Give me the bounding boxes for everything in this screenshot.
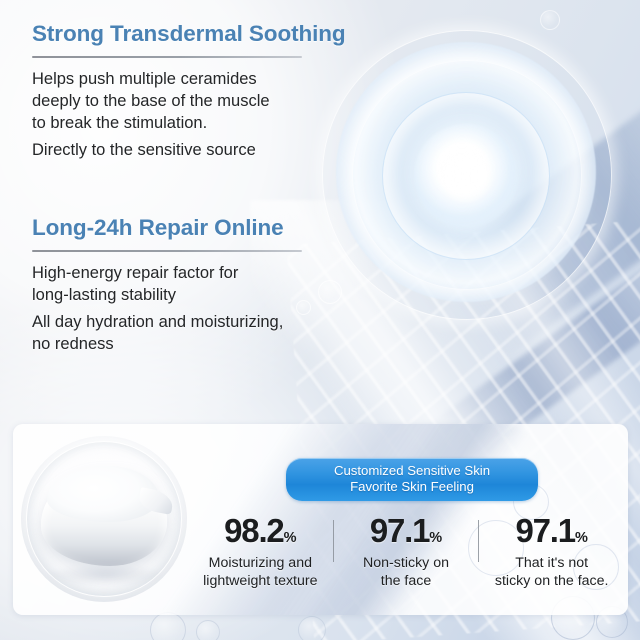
feature-section-1: Strong Transdermal Soothing Helps push m… — [32, 22, 346, 162]
water-droplet-ring-inner — [382, 92, 550, 260]
stats-panel: Customized Sensitive Skin Favorite Skin … — [13, 424, 628, 615]
stat-row: 98.2% Moisturizing and lightweight textu… — [188, 514, 624, 590]
stat-3-number: 97.1 — [516, 512, 575, 549]
bubble-icon — [298, 616, 326, 640]
water-droplet-highlight — [440, 150, 492, 202]
cream-jar-product-image — [21, 436, 187, 602]
bubble-icon — [196, 620, 220, 640]
section-1-paragraph-2: Directly to the sensitive source — [32, 140, 346, 162]
stat-column-1: 98.2% Moisturizing and lightweight textu… — [188, 514, 333, 590]
stat-1-value: 98.2% — [188, 514, 333, 547]
stat-2-number: 97.1 — [370, 512, 429, 549]
bubble-icon — [540, 10, 560, 30]
stat-1-label: Moisturizing and lightweight texture — [188, 554, 333, 590]
product-marketing-poster: Strong Transdermal Soothing Helps push m… — [0, 0, 640, 640]
section-1-paragraph-1: Helps push multiple ceramides deeply to … — [32, 69, 346, 135]
stat-1-number: 98.2 — [224, 512, 283, 549]
water-droplet-orb — [336, 42, 596, 302]
stat-column-2: 97.1% Non-sticky on the face — [334, 514, 479, 590]
water-droplet-core — [414, 124, 518, 228]
stat-3-label: That it's not sticky on the face. — [479, 554, 624, 590]
stat-1-unit: % — [284, 530, 297, 546]
stat-2-value: 97.1% — [334, 514, 479, 547]
jar-shadow — [47, 564, 163, 586]
stat-2-unit: % — [429, 530, 442, 546]
section-1-heading: Strong Transdermal Soothing — [32, 22, 346, 47]
bubble-icon — [318, 280, 342, 304]
feature-section-2: Long-24h Repair Online High-energy repai… — [32, 216, 302, 356]
water-droplet-ring-mid — [352, 60, 582, 290]
section-2-heading: Long-24h Repair Online — [32, 216, 302, 241]
stat-3-value: 97.1% — [479, 514, 624, 547]
stat-3-unit: % — [575, 530, 588, 546]
water-droplet-ring-outer — [322, 30, 612, 320]
customized-skin-badge: Customized Sensitive Skin Favorite Skin … — [286, 458, 538, 501]
stat-2-label: Non-sticky on the face — [334, 554, 479, 590]
background-diagonal-bar-1 — [435, 85, 640, 358]
section-2-paragraph-1: High-energy repair factor for long-lasti… — [32, 263, 302, 307]
bubble-icon — [150, 612, 186, 640]
section-1-divider — [32, 56, 302, 58]
stat-column-3: 97.1% That it's not sticky on the face. — [479, 514, 624, 590]
section-2-paragraph-2: All day hydration and moisturizing, no r… — [32, 312, 302, 356]
section-2-divider — [32, 250, 302, 252]
